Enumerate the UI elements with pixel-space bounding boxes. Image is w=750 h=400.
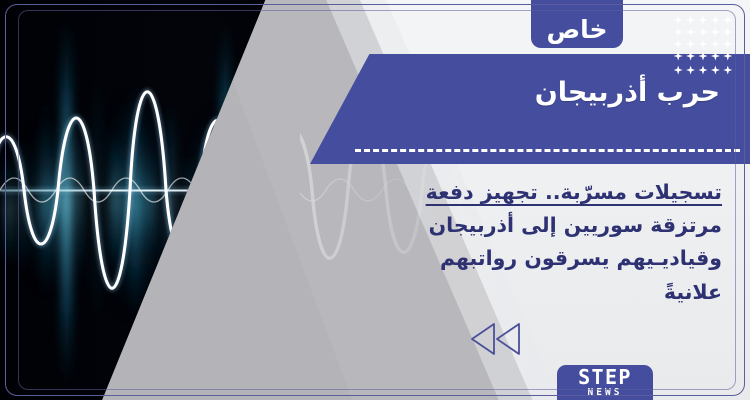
diamond-dot-icon xyxy=(711,40,720,49)
diamond-dot-icon xyxy=(686,40,695,49)
diamond-dot-icon xyxy=(711,16,720,25)
banner-title: حرب أذربيجان xyxy=(320,77,720,108)
diamond-dot-icon xyxy=(698,40,707,49)
diamond-dot-icon xyxy=(723,16,732,25)
news-card: حرب أذربيجان خاص تسجيلات مسرّبة xyxy=(0,0,750,400)
diamond-dot-icon xyxy=(698,66,707,75)
diamond-dot-icon xyxy=(723,28,732,37)
diamond-dot-icon xyxy=(686,52,695,61)
diamond-dot-icon xyxy=(723,52,732,61)
diamond-dot-icon xyxy=(674,66,683,75)
headline-line-2: مرتزقة سوريين إلى أذربيجان xyxy=(352,209,722,242)
diamond-dot-icon xyxy=(698,16,707,25)
step-news-logo: STEP NEWS xyxy=(557,365,653,400)
diamond-dot-icon xyxy=(723,66,732,75)
logo-primary-text: STEP xyxy=(578,368,632,388)
diamond-dot-icon xyxy=(674,16,683,25)
headline-line-4: علانيةً xyxy=(352,276,722,309)
diamond-dot-icon xyxy=(723,40,732,49)
headline-text-block: تسجيلات مسرّبة.. تجهيز دفعة مرتزقة سوريي… xyxy=(352,176,722,309)
decorative-dot-grid xyxy=(672,14,734,62)
diamond-dot-icon xyxy=(698,52,707,61)
diamond-dot-icon xyxy=(711,66,720,75)
headline-line-3: وقياديـيهم يسرقون رواتبهم xyxy=(352,242,722,275)
banner-dashed-divider xyxy=(355,149,740,152)
decorative-dot-row xyxy=(672,62,734,78)
diamond-dot-icon xyxy=(674,28,683,37)
diamond-dot-icon xyxy=(686,66,695,75)
rewind-icon[interactable] xyxy=(470,322,522,356)
diamond-dot-icon xyxy=(686,16,695,25)
headline-line-1: تسجيلات مسرّبة.. تجهيز دفعة xyxy=(426,180,722,204)
exclusive-badge-label: خاص xyxy=(546,15,607,44)
diamond-dot-icon xyxy=(698,28,707,37)
exclusive-badge: خاص xyxy=(531,0,623,48)
diamond-dot-icon xyxy=(711,28,720,37)
diamond-dot-icon xyxy=(674,52,683,61)
logo-secondary-text: NEWS xyxy=(588,388,623,399)
diamond-dot-icon xyxy=(711,52,720,61)
diamond-dot-icon xyxy=(674,40,683,49)
diamond-dot-icon xyxy=(686,28,695,37)
